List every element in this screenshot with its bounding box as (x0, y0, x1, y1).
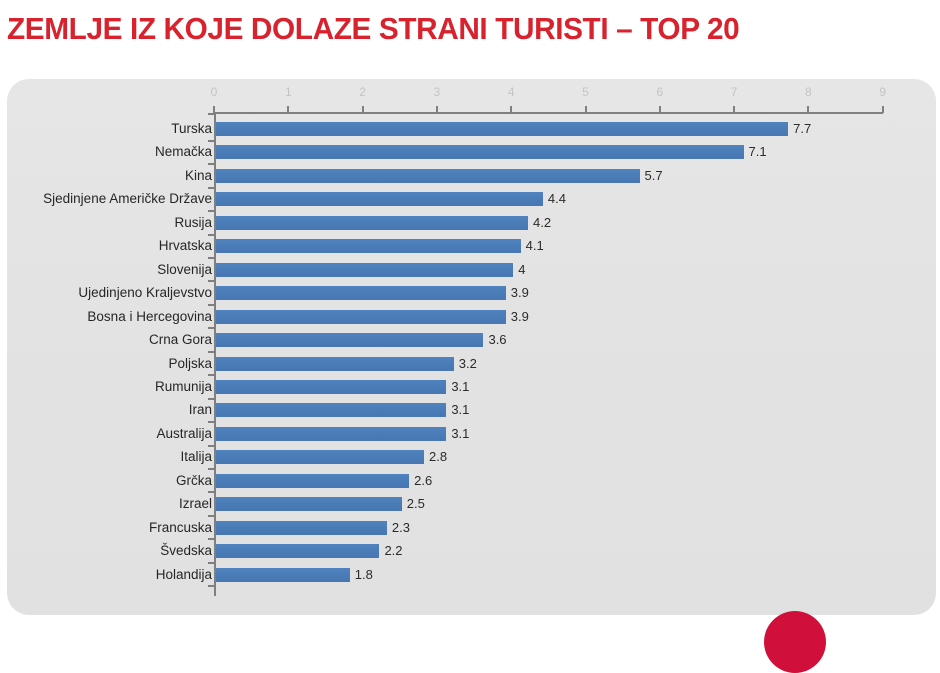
category-axis-tick (208, 187, 215, 189)
category-axis-tick (208, 210, 215, 212)
bar-value-label: 2.5 (407, 497, 425, 511)
value-axis-tick-label: 1 (285, 85, 292, 99)
category-label: Australija (156, 426, 212, 442)
bar-value-label: 3.1 (451, 427, 469, 441)
bar-value-label: 3.6 (488, 333, 506, 347)
category-label: Grčka (176, 473, 212, 489)
bar[interactable] (216, 169, 640, 183)
category-axis-tick (208, 327, 215, 329)
bar[interactable] (216, 568, 350, 582)
bar[interactable] (216, 286, 506, 300)
category-axis-tick (208, 445, 215, 447)
value-axis-line (214, 112, 883, 114)
category-label: Crna Gora (149, 332, 212, 348)
bar-value-label: 2.6 (414, 474, 432, 488)
category-label: Bosna i Hercegovina (87, 309, 212, 325)
bar-value-label: 4.2 (533, 216, 551, 230)
chart-panel: 0123456789Turska7.7Nemačka7.1Kina5.7Sjed… (7, 79, 936, 615)
bar-value-label: 2.2 (384, 544, 402, 558)
value-axis-tick (510, 106, 512, 113)
category-axis-tick (208, 234, 215, 236)
bar-value-label: 3.9 (511, 286, 529, 300)
category-label: Poljska (168, 356, 212, 372)
category-axis-tick (208, 163, 215, 165)
bar-value-label: 4.1 (526, 239, 544, 253)
category-label: Francuska (149, 520, 212, 536)
value-axis-tick-label: 9 (879, 85, 886, 99)
bar[interactable] (216, 216, 528, 230)
category-label: Holandija (156, 567, 212, 583)
value-axis-tick-label: 4 (508, 85, 515, 99)
category-axis-tick (208, 538, 215, 540)
bar-value-label: 3.2 (459, 357, 477, 371)
bar[interactable] (216, 357, 454, 371)
value-axis-tick-label: 2 (359, 85, 366, 99)
bar[interactable] (216, 427, 446, 441)
category-axis-tick (208, 140, 215, 142)
bar[interactable] (216, 450, 424, 464)
bar-value-label: 7.7 (793, 122, 811, 136)
red-circle-badge (764, 611, 826, 673)
category-label: Rusija (174, 215, 212, 231)
bar-value-label: 2.8 (429, 450, 447, 464)
bar[interactable] (216, 403, 446, 417)
value-axis-tick-label: 7 (731, 85, 738, 99)
bar-value-label: 5.7 (645, 169, 663, 183)
value-axis-tick-label: 8 (805, 85, 812, 99)
category-label: Italija (180, 449, 212, 465)
category-axis-tick (208, 515, 215, 517)
plot-area: 0123456789Turska7.7Nemačka7.1Kina5.7Sjed… (7, 79, 936, 615)
bar[interactable] (216, 497, 402, 511)
category-axis-tick (208, 421, 215, 423)
page-title: ZEMLJE IZ KOJE DOLAZE STRANI TURISTI – T… (7, 9, 739, 49)
value-axis-tick-label: 0 (211, 85, 218, 99)
category-axis-tick (208, 585, 215, 587)
value-axis-tick (733, 106, 735, 113)
bar-value-label: 1.8 (355, 568, 373, 582)
bar[interactable] (216, 239, 521, 253)
category-axis-tick (208, 562, 215, 564)
bar[interactable] (216, 310, 506, 324)
bar[interactable] (216, 544, 379, 558)
value-axis-tick (213, 106, 215, 113)
category-axis-tick (208, 468, 215, 470)
bar[interactable] (216, 333, 483, 347)
category-axis-tick (208, 280, 215, 282)
value-axis-tick (585, 106, 587, 113)
bar[interactable] (216, 521, 387, 535)
value-axis-tick-label: 3 (434, 85, 441, 99)
bar-value-label: 4 (518, 263, 525, 277)
bar-value-label: 3.1 (451, 403, 469, 417)
category-axis-tick (208, 304, 215, 306)
bar[interactable] (216, 474, 409, 488)
category-label: Iran (189, 402, 212, 418)
category-label: Sjedinjene Američke Države (43, 191, 212, 207)
value-axis-tick-label: 5 (582, 85, 589, 99)
category-label: Rumunija (155, 379, 212, 395)
value-axis-tick (287, 106, 289, 113)
category-axis-tick (208, 491, 215, 493)
value-axis-tick (807, 106, 809, 113)
category-label: Hrvatska (159, 238, 212, 254)
title-bar: ZEMLJE IZ KOJE DOLAZE STRANI TURISTI – T… (0, 0, 940, 72)
category-label: Ujedinjeno Kraljevstvo (78, 285, 212, 301)
value-axis-tick (436, 106, 438, 113)
value-axis-tick (362, 106, 364, 113)
category-axis-tick (208, 351, 215, 353)
bar-value-label: 7.1 (749, 145, 767, 159)
category-axis-tick (208, 113, 215, 115)
bar-value-label: 2.3 (392, 521, 410, 535)
bar[interactable] (216, 145, 744, 159)
value-axis-tick (659, 106, 661, 113)
bar[interactable] (216, 122, 788, 136)
category-axis-tick (208, 374, 215, 376)
bar-value-label: 3.1 (451, 380, 469, 394)
value-axis-tick (882, 106, 884, 113)
category-label: Turska (171, 121, 212, 137)
category-label: Nemačka (155, 144, 212, 160)
category-label: Izrael (179, 496, 212, 512)
category-label: Kina (185, 168, 212, 184)
bar-value-label: 3.9 (511, 310, 529, 324)
category-axis-tick (208, 398, 215, 400)
bar[interactable] (216, 263, 513, 277)
value-axis-tick-label: 6 (656, 85, 663, 99)
category-label: Slovenija (157, 262, 212, 278)
category-axis-tick (208, 257, 215, 259)
category-label: Švedska (160, 543, 212, 559)
bar[interactable] (216, 380, 446, 394)
bar[interactable] (216, 192, 543, 206)
bar-value-label: 4.4 (548, 192, 566, 206)
